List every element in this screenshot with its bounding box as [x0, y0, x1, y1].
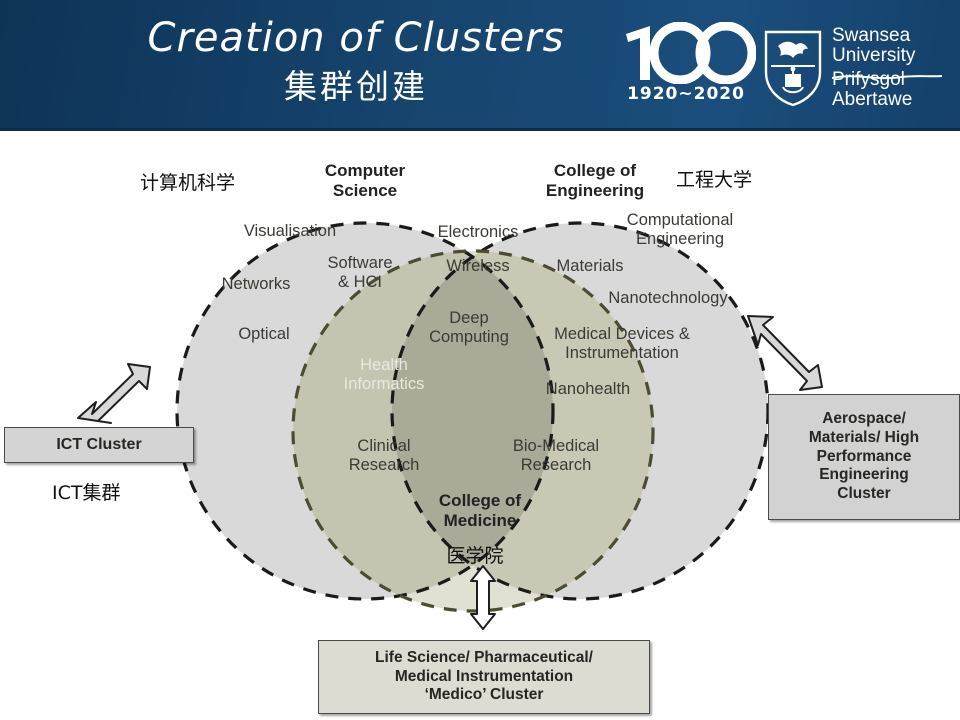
- slide-root: Creation of Clusters 集群创建 1920~2020: [0, 0, 960, 720]
- page-title-zh: 集群创建: [96, 66, 616, 108]
- centenary-100-icon: [616, 22, 756, 84]
- aerospace-cluster-box[interactable]: Aerospace/ Materials/ High Performance E…: [768, 394, 960, 520]
- medico-cluster-box[interactable]: Life Science/ Pharmaceutical/ Medical In…: [318, 640, 650, 714]
- centenary-logo: 1920~2020: [616, 22, 756, 114]
- ict-cluster-zh-label: ICT集群: [52, 478, 120, 505]
- university-line-4: Abertawe: [832, 90, 942, 110]
- centenary-years: 1920~2020: [627, 84, 745, 104]
- university-wordmark: Swansea University Prifysgol Abertawe: [832, 26, 942, 110]
- swansea-logo-block: 1920~2020 Swansea University: [616, 22, 942, 114]
- university-line-1: Swansea: [832, 26, 942, 46]
- ict-cluster-box[interactable]: ICT Cluster: [4, 427, 194, 463]
- title-block: Creation of Clusters 集群创建: [96, 10, 616, 108]
- header-banner: Creation of Clusters 集群创建 1920~2020: [0, 0, 960, 131]
- university-line-3: Prifysgol: [832, 70, 942, 90]
- swansea-crest-icon: [762, 28, 824, 108]
- page-title-en: Creation of Clusters: [96, 10, 616, 66]
- university-line-2: University: [832, 46, 942, 66]
- ict-arrow: [78, 364, 150, 423]
